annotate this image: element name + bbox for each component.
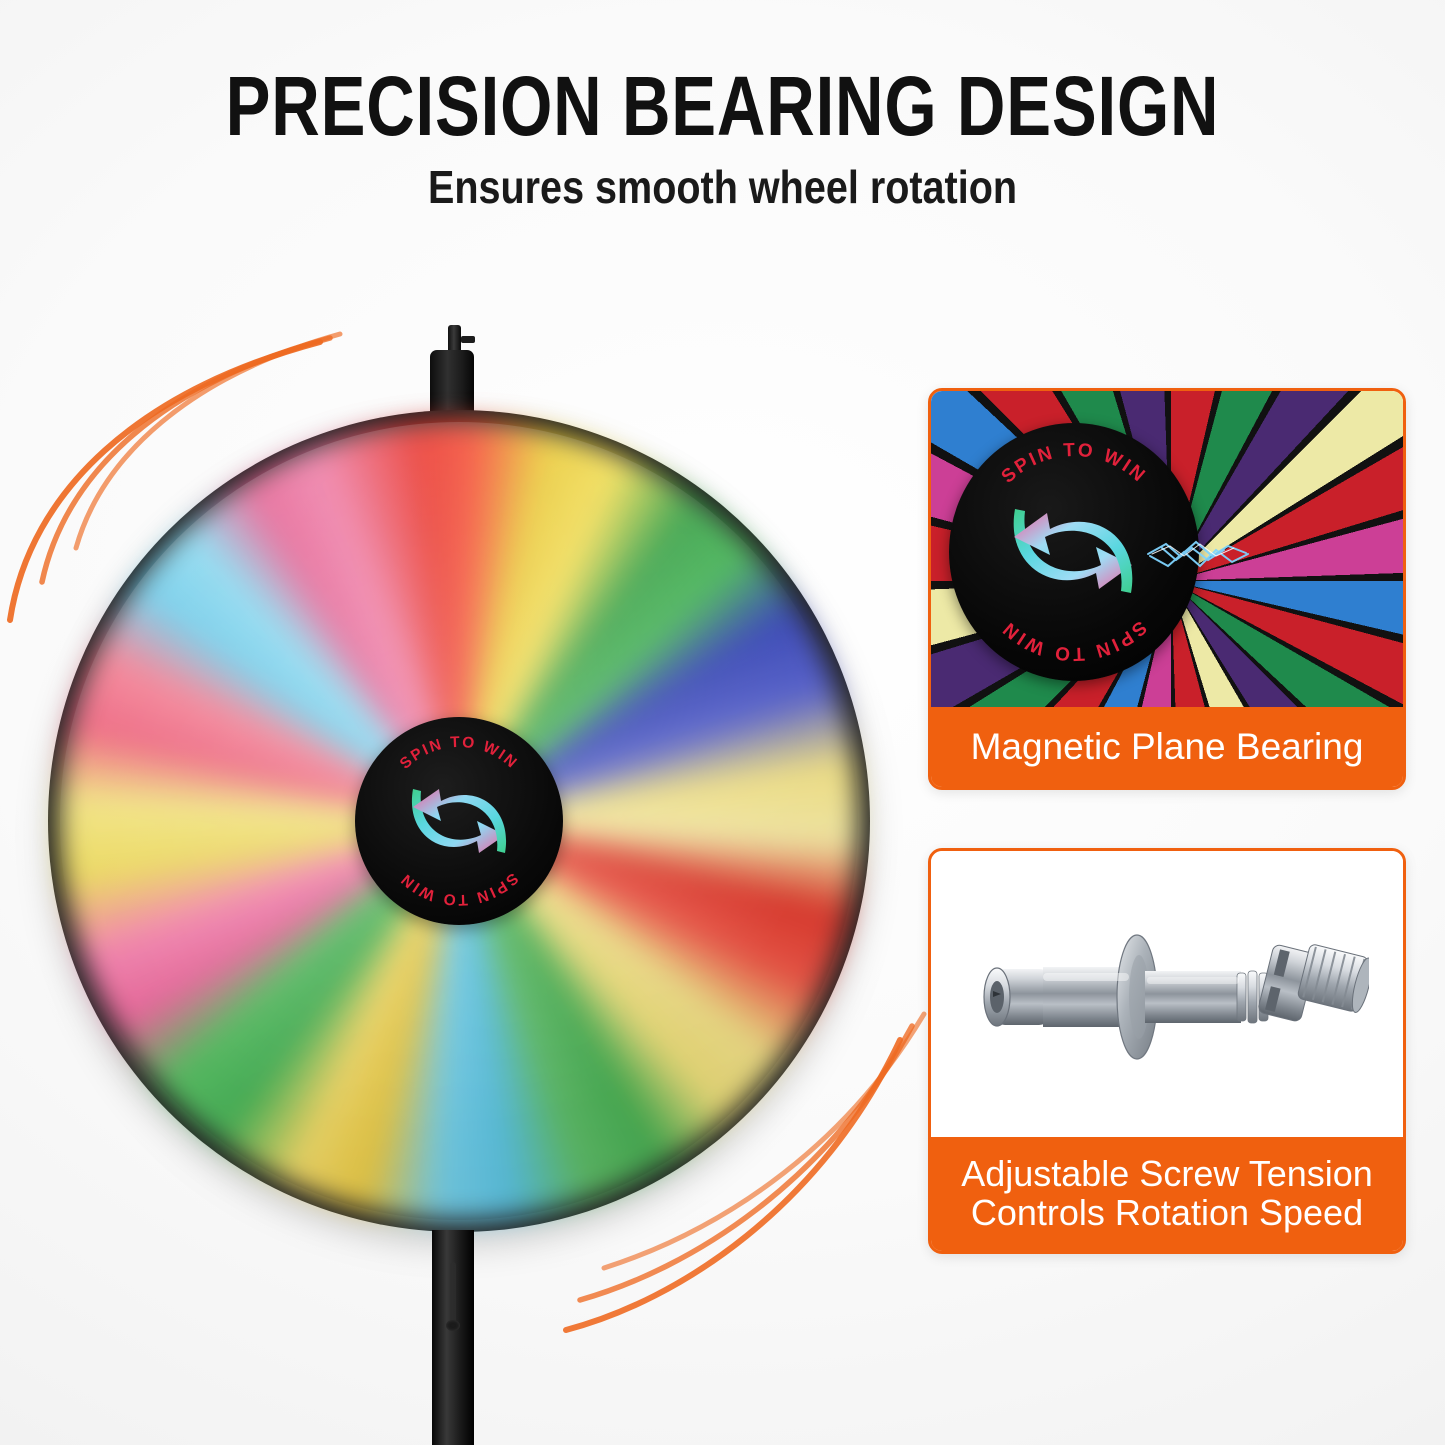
panel-caption-magnetic-bearing: Magnetic Plane Bearing xyxy=(931,707,1403,787)
hub-text-top: SPIN TO WIN xyxy=(397,734,521,773)
screw-caption-line-1: Adjustable Screw Tension xyxy=(961,1153,1373,1194)
inset-hub-text-top: SPIN TO WIN xyxy=(998,440,1151,488)
magnetic-spark-icon xyxy=(1146,526,1256,580)
product-photo: SPIN TO WIN SPIN TO WIN xyxy=(0,300,900,1445)
screw-caption-line-2: Controls Rotation Speed xyxy=(971,1192,1363,1233)
inset-recycle-arrows-icon xyxy=(1014,509,1133,593)
prize-wheel[interactable]: SPIN TO WIN SPIN TO WIN xyxy=(48,410,870,1232)
pole-adjust-knob xyxy=(446,1320,460,1331)
hub-text-bottom: SPIN TO WIN xyxy=(397,869,521,908)
page-title: PRECISION BEARING DESIGN xyxy=(145,0,1301,148)
inset-hub-text-bottom: SPIN TO WIN xyxy=(998,616,1151,664)
header: PRECISION BEARING DESIGN Ensures smooth … xyxy=(0,0,1445,210)
recycle-arrows-icon xyxy=(412,789,506,853)
screw-photo xyxy=(931,851,1403,1137)
hub-graphic: SPIN TO WIN SPIN TO WIN xyxy=(355,717,563,925)
axle-screw-graphic xyxy=(969,911,1369,1081)
page-subtitle: Ensures smooth wheel rotation xyxy=(101,148,1344,210)
pole-adjust-slot xyxy=(450,1262,456,1328)
feature-panel-screw-tension[interactable]: Adjustable Screw Tension Controls Rotati… xyxy=(928,848,1406,1254)
clicker-thumbscrew xyxy=(461,336,475,343)
panel-caption-screw-tension: Adjustable Screw Tension Controls Rotati… xyxy=(931,1137,1403,1251)
magnetic-bearing-photo: SPIN TO WIN SPIN TO WIN xyxy=(931,391,1403,707)
wheel-hub: SPIN TO WIN SPIN TO WIN xyxy=(355,717,563,925)
feature-panel-magnetic-bearing[interactable]: SPIN TO WIN SPIN TO WIN Magneti xyxy=(928,388,1406,790)
